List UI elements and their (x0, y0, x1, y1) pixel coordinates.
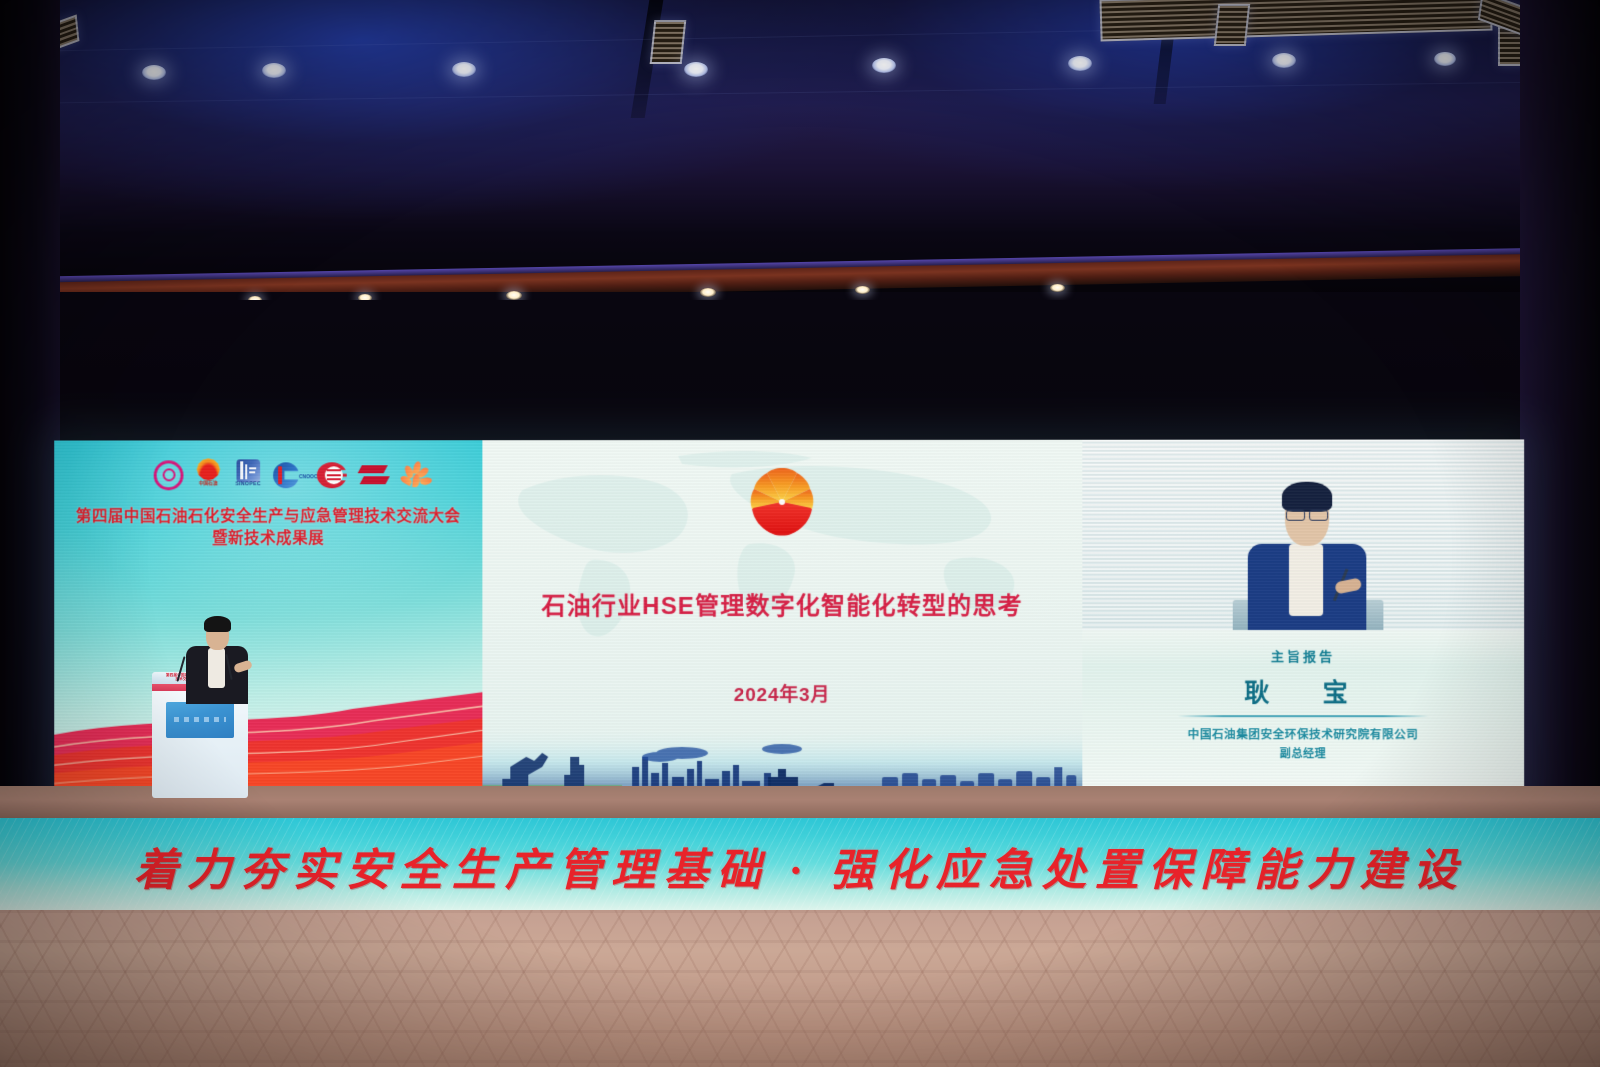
led-left-panel: 中国石油 SINOPEC CNOOC (54, 440, 482, 805)
logo-cnooc-label: CNOOC (299, 474, 318, 480)
ceiling-downlight (506, 291, 522, 300)
sponsor-logos-row: 中国石油 SINOPEC CNOOC (149, 456, 438, 494)
video-speaker-shirt (1289, 544, 1323, 616)
speaker-shirt (208, 648, 225, 688)
conference-title: 第四届中国石油石化安全生产与应急管理技术交流大会 暨新技术成果展 (72, 506, 464, 550)
led-video-wall: 中国石油 SINOPEC CNOOC (54, 439, 1524, 805)
slide-date: 2024年3月 (482, 680, 1082, 707)
conference-stage-photo: 中国石油 SINOPEC CNOOC (0, 0, 1600, 1067)
ceiling-downlight (1068, 56, 1092, 71)
speaker-info-block: 主旨报告 耿 宝 中国石油集团安全环保技术研究院有限公司 副总经理 (1082, 646, 1524, 761)
video-speaker-glasses (1309, 510, 1328, 521)
microphone-stand (176, 656, 185, 682)
conference-title-line1: 第四届中国石油石化安全生产与应急管理技术交流大会 (72, 506, 464, 528)
ceiling-vent (1099, 0, 1492, 41)
logo-cap-ring (154, 460, 184, 490)
cnpc-sunburst-logo (747, 462, 817, 540)
stage-speaker (178, 612, 258, 710)
live-speaker-video (1082, 439, 1524, 630)
conference-title-line2: 暨新技术成果展 (72, 528, 464, 550)
led-center-panel: 石油行业HSE管理数字化智能化转型的思考 2024年3月 (482, 440, 1082, 805)
ceiling-downlight (684, 62, 708, 77)
video-speaker-glasses (1286, 510, 1305, 521)
speaker-name: 耿 宝 (1082, 673, 1524, 709)
banner-slogan: 着力夯实安全生产管理基础 · 强化应急处置保障能力建设 (0, 834, 1600, 898)
ceiling-downlight (1050, 284, 1065, 292)
led-right-panel: 主旨报告 耿 宝 中国石油集团安全环保技术研究院有限公司 副总经理 (1082, 439, 1524, 805)
logo-cnooc: CNOOC (273, 461, 307, 489)
speaker-role: 副总经理 (1082, 745, 1524, 761)
auditorium-carpet (0, 910, 1600, 1067)
speaker-hair (204, 616, 231, 632)
ceiling-vent (650, 20, 687, 64)
slide-title: 石油行业HSE管理数字化智能化转型的思考 (482, 586, 1082, 621)
ceiling-downlight (872, 58, 896, 73)
ceiling-downlight (855, 286, 870, 294)
logo-sinochem (317, 462, 349, 488)
speaker-kicker: 主旨报告 (1082, 646, 1524, 665)
ceiling-downlight (142, 65, 166, 80)
front-stage-banner: 着力夯实安全生产管理基础 · 强化应急处置保障能力建设 (0, 818, 1600, 910)
ceiling-downlight (1272, 53, 1296, 68)
speaker-divider (1178, 715, 1429, 717)
logo-sinopec-label: SINOPEC (233, 481, 263, 487)
logo-chevron-red (359, 462, 391, 488)
ceiling-downlight (1434, 52, 1456, 66)
ceiling-downlight (262, 63, 286, 78)
logo-spark-orange (401, 461, 433, 489)
logo-cnpc: 中国石油 (193, 458, 223, 492)
ceiling-downlight (700, 288, 716, 297)
auditorium-ceiling (0, 0, 1600, 300)
ceiling-vent (1214, 4, 1250, 46)
logo-sinopec: SINOPEC (233, 459, 263, 491)
ceiling-downlight (452, 62, 476, 77)
video-speaker-hair (1282, 482, 1332, 512)
logo-cnpc-label: 中国石油 (199, 481, 218, 486)
speaker-organization: 中国石油集团安全环保技术研究院有限公司 (1082, 726, 1524, 742)
